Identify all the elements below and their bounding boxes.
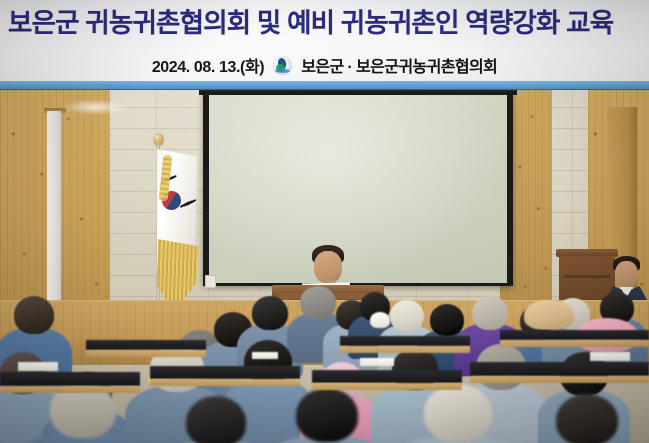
audience-desk [470, 362, 649, 376]
desk-wood-edge [86, 350, 206, 357]
desk-wood-edge [470, 376, 649, 383]
audience-desk [312, 370, 462, 383]
audience-desk [150, 366, 300, 379]
emblem-mark-base [275, 69, 290, 73]
boeun-county-emblem-icon [273, 56, 292, 75]
audience-desk [340, 336, 470, 346]
audience-desk [86, 340, 206, 350]
handout-paper [18, 362, 58, 371]
audience-member-head [186, 396, 246, 443]
audience-member-head [556, 394, 618, 443]
audience-member-head [390, 300, 424, 331]
audience-member-head [296, 388, 358, 442]
audience-member-head [14, 296, 54, 334]
audience-member-head [252, 296, 288, 330]
banner-title: 보은군 귀농귀촌협의회 및 예비 귀농귀촌인 역량강화 교육 [8, 3, 649, 43]
desk-wood-edge [150, 379, 300, 386]
handout-paper [360, 358, 394, 366]
audience-member-head [472, 296, 508, 330]
audience-member-head [430, 304, 464, 336]
audience-desk [0, 372, 140, 386]
banner-drop-shadow [0, 89, 649, 90]
handout-paper [590, 352, 630, 361]
beige-straw-hat-icon [524, 300, 574, 330]
audience-desk [500, 330, 649, 340]
desk-wood-edge [340, 346, 470, 353]
desk-wood-edge [0, 386, 140, 393]
white-hair-scrunchie-icon [370, 312, 390, 328]
desk-wood-edge [500, 340, 649, 347]
event-banner: 보은군 귀농귀촌협의회 및 예비 귀농귀촌인 역량강화 교육 2024. 08.… [0, 0, 649, 90]
handout-paper [252, 352, 278, 359]
event-date: 2024. 08. 13.(화) [152, 53, 264, 77]
organizer-names: 보은군 · 보은군귀농귀촌협의회 [301, 53, 497, 77]
lecture-hall-room [0, 89, 649, 443]
lecture-hall-screenshot: 보은군 귀농귀촌협의회 및 예비 귀농귀촌인 역량강화 교육 2024. 08.… [0, 0, 649, 443]
audience-member-head [300, 286, 336, 319]
desk-wood-edge [312, 383, 462, 390]
audience-area [0, 89, 649, 443]
audience-member-head [424, 384, 492, 442]
banner-subtitle-row: 2024. 08. 13.(화) 보은군 · 보은군귀농귀촌협의회 [0, 50, 649, 80]
